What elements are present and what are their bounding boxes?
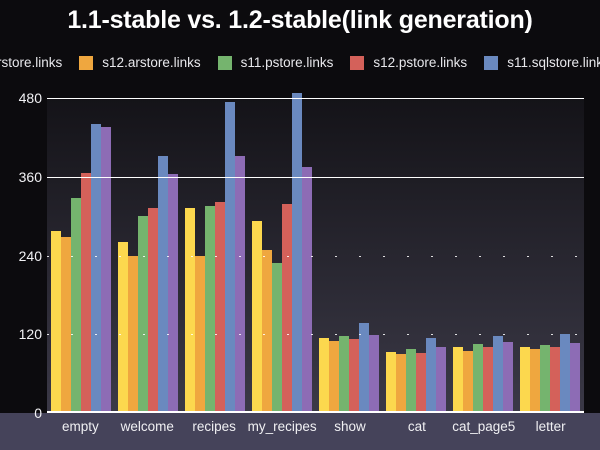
legend-item[interactable]: s11.pstore.links: [218, 56, 334, 70]
legend-item[interactable]: s12.arstore.links: [79, 56, 200, 70]
x-axis-line: [47, 411, 584, 413]
legend-swatch-icon: [79, 56, 93, 70]
legend-item-label: s11.arstore.links: [0, 56, 62, 70]
bar[interactable]: [282, 204, 292, 413]
bar[interactable]: [550, 347, 560, 413]
x-axis-tick-label: show: [317, 419, 384, 439]
bar[interactable]: [272, 263, 282, 413]
y-axis-tick-label: 0: [34, 406, 42, 420]
plot-area: [47, 98, 584, 413]
x-axis-tick-label: recipes: [181, 419, 248, 439]
bar[interactable]: [416, 353, 426, 413]
legend-item[interactable]: s11.arstore.links: [0, 56, 62, 70]
bar[interactable]: [158, 156, 168, 413]
y-axis-tick-label: 360: [19, 170, 42, 184]
bar[interactable]: [215, 202, 225, 413]
bar[interactable]: [503, 342, 513, 413]
bar[interactable]: [51, 231, 61, 413]
bar[interactable]: [319, 338, 329, 413]
bar[interactable]: [359, 323, 369, 413]
bar[interactable]: [406, 349, 416, 413]
bar[interactable]: [540, 345, 550, 413]
legend-item-label: s11.sqlstore.links: [507, 56, 600, 70]
x-axis-tick-label: my_recipes: [248, 419, 317, 439]
bar[interactable]: [71, 198, 81, 413]
legend-item[interactable]: s11.sqlstore.links: [484, 56, 600, 70]
y-axis-tick-label: 480: [19, 91, 42, 105]
y-axis-tick-label: 120: [19, 327, 42, 341]
bar[interactable]: [168, 174, 178, 413]
bar[interactable]: [426, 338, 436, 413]
gridline: [47, 256, 584, 257]
bar[interactable]: [570, 343, 580, 413]
legend-swatch-icon: [484, 56, 498, 70]
bar[interactable]: [302, 167, 312, 413]
bar[interactable]: [483, 347, 493, 413]
bar[interactable]: [118, 242, 128, 413]
gridline: [47, 334, 584, 335]
bar[interactable]: [386, 352, 396, 413]
bar[interactable]: [235, 156, 245, 413]
bar[interactable]: [262, 250, 272, 413]
gridline: [47, 98, 584, 99]
bar[interactable]: [473, 344, 483, 413]
bar[interactable]: [520, 347, 530, 413]
x-axis-tick-label: cat: [383, 419, 450, 439]
bar[interactable]: [91, 124, 101, 413]
x-axis-labels: emptywelcomerecipesmy_recipesshowcatcat_…: [47, 419, 584, 439]
bar[interactable]: [530, 349, 540, 413]
bar[interactable]: [292, 93, 302, 413]
bar[interactable]: [453, 347, 463, 413]
legend-item[interactable]: s12.pstore.links: [350, 56, 467, 70]
bar-chart: 1.1-stable vs. 1.2-stable(link generatio…: [0, 0, 600, 450]
bar[interactable]: [81, 173, 91, 413]
page-title: 1.1-stable vs. 1.2-stable(link generatio…: [0, 6, 600, 35]
bar[interactable]: [369, 335, 379, 413]
bar[interactable]: [436, 347, 446, 413]
y-axis-tick-label: 240: [19, 249, 42, 263]
bar[interactable]: [61, 237, 71, 413]
x-axis-tick-label: empty: [47, 419, 114, 439]
bar[interactable]: [185, 208, 195, 413]
legend-item-label: s12.pstore.links: [373, 56, 467, 70]
legend-item-label: s11.pstore.links: [241, 56, 334, 70]
bar[interactable]: [148, 208, 158, 413]
gridline: [47, 177, 584, 178]
chart-legend: s11.arstore.linkss12.arstore.linkss11.ps…: [0, 52, 600, 74]
bar[interactable]: [225, 102, 235, 413]
legend-item-label: s12.arstore.links: [102, 56, 200, 70]
bar[interactable]: [252, 221, 262, 413]
bar[interactable]: [396, 354, 406, 413]
bar[interactable]: [101, 127, 111, 413]
bar[interactable]: [560, 334, 570, 413]
x-axis-tick-label: welcome: [114, 419, 181, 439]
bar[interactable]: [463, 351, 473, 413]
bar[interactable]: [138, 216, 148, 413]
legend-swatch-icon: [218, 56, 232, 70]
bar[interactable]: [329, 341, 339, 413]
bar[interactable]: [205, 206, 215, 413]
bar[interactable]: [349, 339, 359, 413]
x-axis-tick-label: cat_page5: [450, 419, 517, 439]
legend-swatch-icon: [350, 56, 364, 70]
bar[interactable]: [339, 336, 349, 413]
bar[interactable]: [493, 336, 503, 413]
x-axis-tick-label: letter: [517, 419, 584, 439]
y-axis-labels: 4803602401200: [0, 98, 42, 413]
